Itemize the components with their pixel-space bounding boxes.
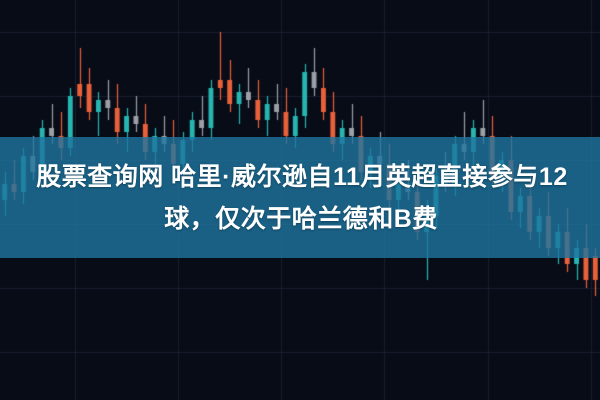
headline-line-1: 股票查询网 哈里·威尔逊自11月英超直接参与12 xyxy=(32,156,568,198)
headline-overlay-band: 股票查询网 哈里·威尔逊自11月英超直接参与12 球，仅次于哈兰德和B费 xyxy=(0,137,600,258)
screenshot-root: 股票查询网 哈里·威尔逊自11月英超直接参与12 球，仅次于哈兰德和B费 xyxy=(0,0,600,400)
headline-line-2: 球，仅次于哈兰德和B费 xyxy=(162,198,438,240)
